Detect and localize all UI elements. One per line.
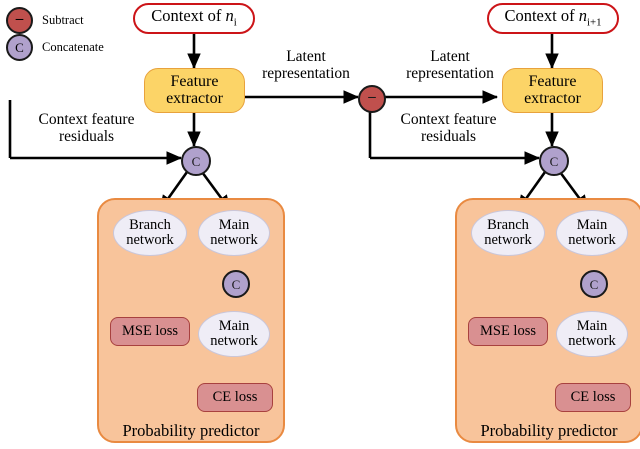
context-var-left: n <box>225 6 233 25</box>
latent-label-right: Latent representation <box>396 48 504 83</box>
predictor-concat-node-left: C <box>222 270 250 298</box>
legend-item-subtract: – Subtract <box>6 7 84 34</box>
concat-node-right: C <box>539 146 569 176</box>
residual-label-right: Context feature residuals <box>376 111 521 146</box>
concatenate-glyph: C <box>15 41 24 54</box>
latent-label-left: Latent representation <box>252 48 360 83</box>
ce-loss-label-left: CE loss <box>213 390 258 405</box>
ce-loss-right: CE loss <box>555 383 631 412</box>
branch-network-right: Branch network <box>471 210 545 256</box>
context-sub-right: i+1 <box>587 17 602 29</box>
diagram-canvas: – Subtract C Concatenate Context of ni F… <box>0 0 640 449</box>
feature-extractor-right: Feature extractor <box>502 68 603 113</box>
branch-network-label-right: Branch network <box>472 218 544 248</box>
legend-item-concatenate: C Concatenate <box>6 34 104 61</box>
concat-node-left: C <box>181 146 211 176</box>
context-sub-left: i <box>234 17 237 29</box>
legend-label-subtract: Subtract <box>42 13 84 28</box>
context-label-right: Context of ni+1 <box>504 8 601 28</box>
context-node-left: Context of ni <box>133 3 255 34</box>
predictor-concat-node-right: C <box>580 270 608 298</box>
context-label-left: Context of ni <box>151 8 237 28</box>
concat-glyph-left: C <box>192 155 201 168</box>
probability-predictor-title-left: Probability predictor <box>97 421 285 441</box>
main-network-bottom-label-left: Main network <box>199 319 269 349</box>
main-network-top-label-left: Main network <box>199 218 269 248</box>
subtract-node-glyph: – <box>368 90 376 105</box>
subtract-glyph: – <box>16 12 24 27</box>
predictor-concat-glyph-right: C <box>590 278 599 291</box>
mse-loss-label-left: MSE loss <box>122 324 178 339</box>
main-network-bottom-left: Main network <box>198 311 270 357</box>
branch-network-left: Branch network <box>113 210 187 256</box>
main-network-bottom-label-right: Main network <box>557 319 627 349</box>
ce-loss-left: CE loss <box>197 383 273 412</box>
subtract-icon: – <box>6 7 33 34</box>
mse-loss-right: MSE loss <box>468 317 548 346</box>
concatenate-icon: C <box>6 34 33 61</box>
feature-extractor-label-right: Feature extractor <box>503 74 602 107</box>
main-network-top-label-right: Main network <box>557 218 627 248</box>
main-network-bottom-right: Main network <box>556 311 628 357</box>
probability-predictor-title-right: Probability predictor <box>455 421 640 441</box>
concat-glyph-right: C <box>550 155 559 168</box>
ce-loss-label-right: CE loss <box>571 390 616 405</box>
mse-loss-label-right: MSE loss <box>480 324 536 339</box>
subtract-node: – <box>358 85 386 113</box>
context-var-right: n <box>579 6 587 25</box>
feature-extractor-left: Feature extractor <box>144 68 245 113</box>
mse-loss-left: MSE loss <box>110 317 190 346</box>
context-node-right: Context of ni+1 <box>487 3 619 34</box>
feature-extractor-label-left: Feature extractor <box>145 74 244 107</box>
legend-label-concatenate: Concatenate <box>42 40 104 55</box>
branch-network-label-left: Branch network <box>114 218 186 248</box>
predictor-concat-glyph-left: C <box>232 278 241 291</box>
main-network-top-left: Main network <box>198 210 270 256</box>
residual-label-left: Context feature residuals <box>14 111 159 146</box>
main-network-top-right: Main network <box>556 210 628 256</box>
